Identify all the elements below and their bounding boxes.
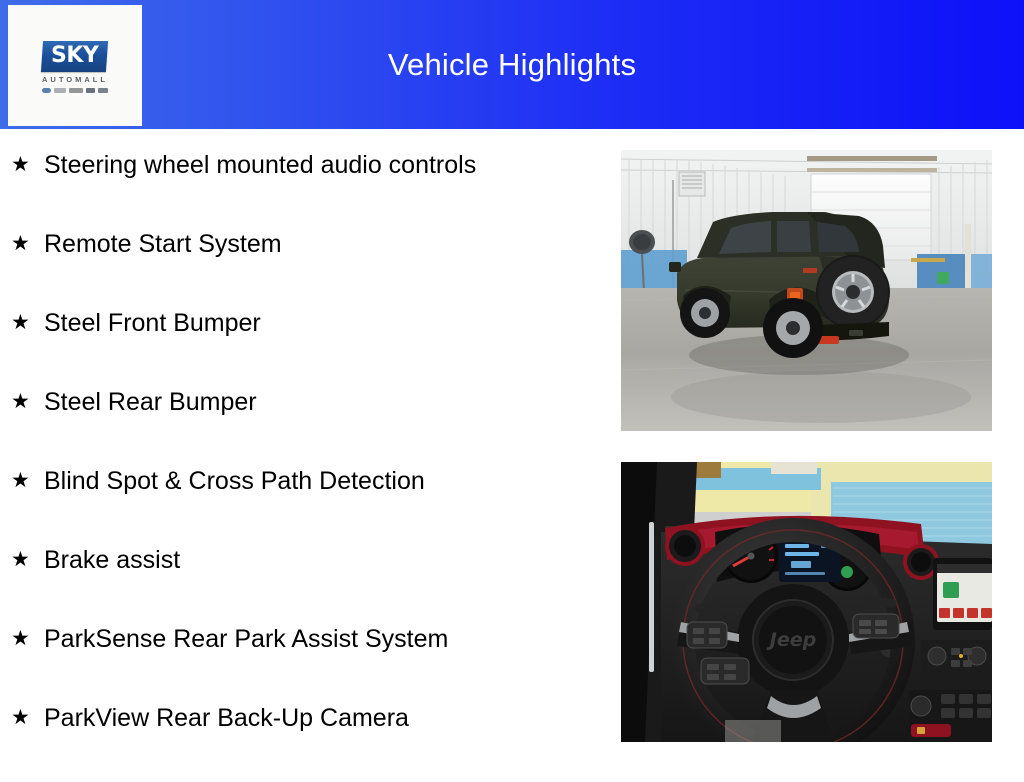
feature-label: Steering wheel mounted audio controls — [44, 150, 476, 180]
exterior-photo-image — [621, 150, 992, 431]
star-bullet-icon: ★ — [11, 308, 33, 338]
page-header: Vehicle Highlights — [0, 0, 1024, 129]
vehicle-photo-interior[interactable]: Jeep — [621, 462, 992, 742]
feature-label: Remote Start System — [44, 229, 282, 259]
star-bullet-icon: ★ — [11, 150, 33, 180]
star-bullet-icon: ★ — [11, 703, 33, 733]
svg-text:Jeep: Jeep — [766, 629, 816, 651]
list-item: ★ Blind Spot & Cross Path Detection — [0, 466, 610, 545]
oem-brand-logos-strip — [42, 87, 108, 94]
feature-label: Steel Rear Bumper — [44, 387, 257, 417]
star-bullet-icon: ★ — [11, 387, 33, 417]
oem-brand-mark-ram-icon — [98, 88, 108, 93]
feature-label: ParkSense Rear Park Assist System — [44, 624, 448, 654]
list-item: ★ Steel Front Bumper — [0, 308, 610, 387]
sky-wordmark-block: SKY — [41, 41, 108, 72]
feature-label: Steel Front Bumper — [44, 308, 261, 338]
oem-brand-mark-ford-icon — [42, 88, 51, 93]
feature-label: ParkView Rear Back-Up Camera — [44, 703, 409, 733]
vehicle-photo-exterior[interactable] — [621, 150, 992, 431]
oem-brand-mark-jeep-icon — [86, 88, 95, 93]
list-item: ★ Brake assist — [0, 545, 610, 624]
page-title: Vehicle Highlights — [0, 0, 1024, 129]
dealer-logo-card[interactable]: SKY AUTOMALL — [8, 5, 142, 126]
list-item: ★ Remote Start System — [0, 229, 610, 308]
list-item: ★ Steel Rear Bumper — [0, 387, 610, 466]
vehicle-features-list: ★ Steering wheel mounted audio controls … — [0, 129, 610, 768]
star-bullet-icon: ★ — [11, 545, 33, 575]
list-item: ★ ParkView Rear Back-Up Camera — [0, 703, 610, 782]
feature-label: Blind Spot & Cross Path Detection — [44, 466, 425, 496]
feature-label: Brake assist — [44, 545, 180, 575]
list-item: ★ Steering wheel mounted audio controls — [0, 150, 610, 229]
star-bullet-icon: ★ — [11, 466, 33, 496]
interior-photo-image: Jeep — [621, 462, 992, 742]
oem-brand-mark-dodge-icon — [69, 88, 83, 93]
list-item: ★ ParkSense Rear Park Assist System — [0, 624, 610, 703]
star-bullet-icon: ★ — [11, 229, 33, 259]
star-bullet-icon: ★ — [11, 624, 33, 654]
oem-brand-mark-chrysler-icon — [54, 88, 66, 93]
sky-wordmark-text: SKY — [51, 45, 98, 67]
automall-subtitle: AUTOMALL — [42, 76, 108, 84]
dealer-logo: SKY AUTOMALL — [42, 41, 108, 94]
